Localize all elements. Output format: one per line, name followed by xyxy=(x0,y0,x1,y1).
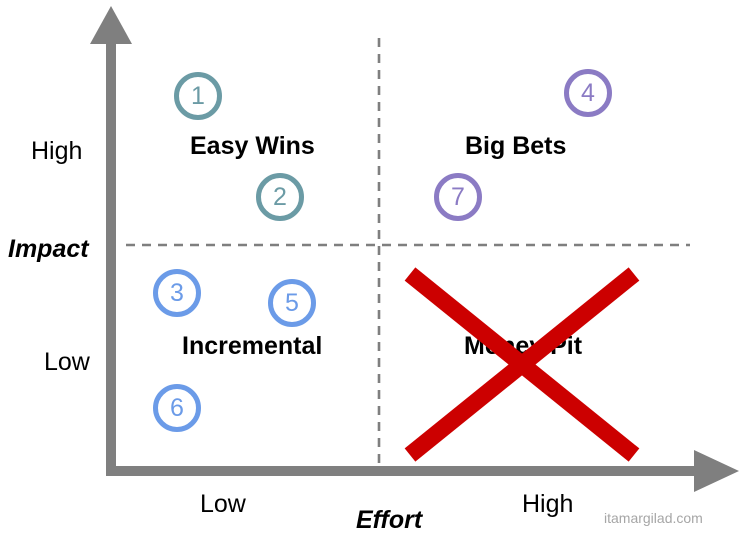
item-circle-5[interactable]: 5 xyxy=(268,279,316,327)
y-axis-high-label: High xyxy=(31,139,82,164)
item-circle-3[interactable]: 3 xyxy=(153,269,201,317)
quadrant-label-incremental: Incremental xyxy=(182,334,322,359)
item-circle-1[interactable]: 1 xyxy=(174,72,222,120)
item-circle-2[interactable]: 2 xyxy=(256,173,304,221)
x-axis-arrowhead xyxy=(694,450,739,492)
item-circle-6[interactable]: 6 xyxy=(153,384,201,432)
quadrant-label-easy-wins: Easy Wins xyxy=(190,134,315,159)
quadrant-label-big-bets: Big Bets xyxy=(465,134,566,159)
x-axis-low-label: Low xyxy=(200,492,246,517)
strikeout-line-up xyxy=(410,274,634,455)
quadrant-label-money-pit: Money Pit xyxy=(464,334,582,359)
y-axis-low-label: Low xyxy=(44,350,90,375)
x-axis-high-label: High xyxy=(522,492,573,517)
watermark: itamargilad.com xyxy=(604,511,703,525)
impact-effort-matrix: High Low Impact Low High Effort Easy Win… xyxy=(0,0,744,550)
item-circle-7[interactable]: 7 xyxy=(434,173,482,221)
y-axis-arrowhead xyxy=(90,6,132,44)
money-pit-strikeout-x xyxy=(0,0,744,550)
x-axis-title: Effort xyxy=(356,508,422,533)
axes-and-dividers xyxy=(0,0,744,550)
item-circle-4[interactable]: 4 xyxy=(564,69,612,117)
strikeout-line-down xyxy=(410,274,634,455)
y-axis-line xyxy=(106,38,116,472)
x-axis-line xyxy=(106,466,697,476)
y-axis-title: Impact xyxy=(8,237,89,262)
